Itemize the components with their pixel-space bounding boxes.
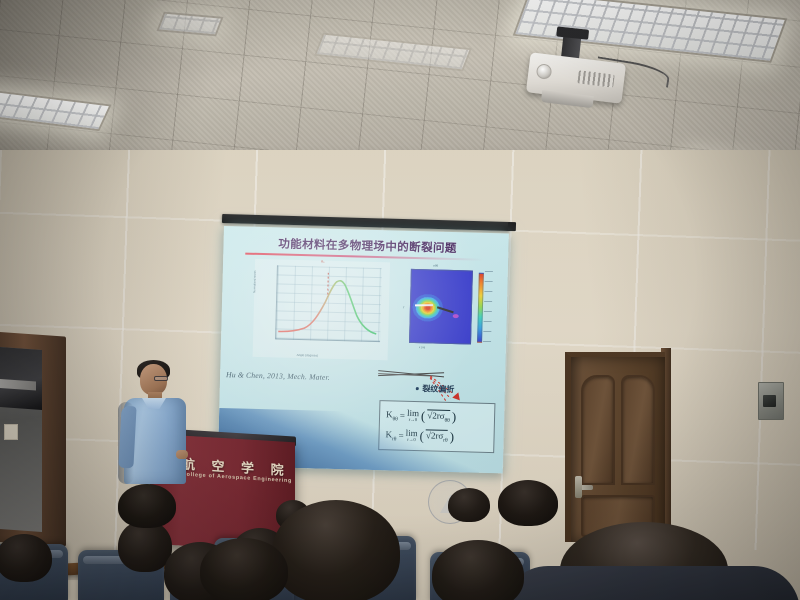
audience-head — [448, 488, 490, 522]
peak-annotation: θ₀ — [321, 260, 324, 264]
glasses-icon — [154, 376, 168, 381]
door-panel — [621, 375, 655, 485]
stress-field-contour-chart: σθθ y x (m) — [401, 263, 492, 363]
slide-citation: Hu & Chen, 2013, Mech. Mater. — [226, 370, 330, 382]
wall-plate — [4, 424, 18, 440]
door-handle[interactable] — [577, 485, 593, 490]
left-window-glass — [0, 346, 42, 410]
stress-angle-line-chart: Normalized stress Angle (degrees) — [253, 259, 391, 361]
electrical-panel[interactable] — [758, 382, 784, 420]
presenter-hand — [176, 450, 188, 459]
contour-toplabel: σθθ — [433, 263, 438, 267]
presenter — [118, 362, 192, 482]
slide-bullet-item: 裂纹偏折 — [416, 383, 455, 395]
crack-direction-arrow-icon — [437, 306, 454, 313]
foreground-head — [200, 538, 288, 600]
lecture-hall-scene: 功能材料在多物理场中的断裂问题 Normalized stress Angle … — [0, 0, 800, 600]
slide-bullet-label: 裂纹偏折 — [422, 383, 454, 395]
projector-lens-icon — [536, 63, 553, 80]
projector-vent — [577, 70, 614, 87]
contour-field — [409, 269, 473, 345]
crack-tip-marker — [453, 314, 459, 318]
colorbar-ticks — [483, 271, 493, 345]
foreground-head — [432, 540, 524, 600]
left-plot-ylabel: Normalized stress — [252, 270, 257, 292]
audience-head — [498, 480, 558, 526]
foreground-shoulder — [502, 566, 800, 600]
left-plot-xlabel: Angle (degrees) — [297, 353, 318, 358]
contour-ylabel: y — [403, 305, 405, 309]
left-plot-curve — [276, 265, 383, 342]
foreground-head — [272, 500, 400, 600]
door-panel — [581, 375, 615, 485]
audience-head — [118, 484, 176, 528]
audience-head — [0, 534, 52, 582]
contour-xlabel: x (m) — [419, 345, 425, 349]
crack-line-icon — [415, 304, 433, 306]
bullet-dot-icon — [416, 387, 419, 390]
